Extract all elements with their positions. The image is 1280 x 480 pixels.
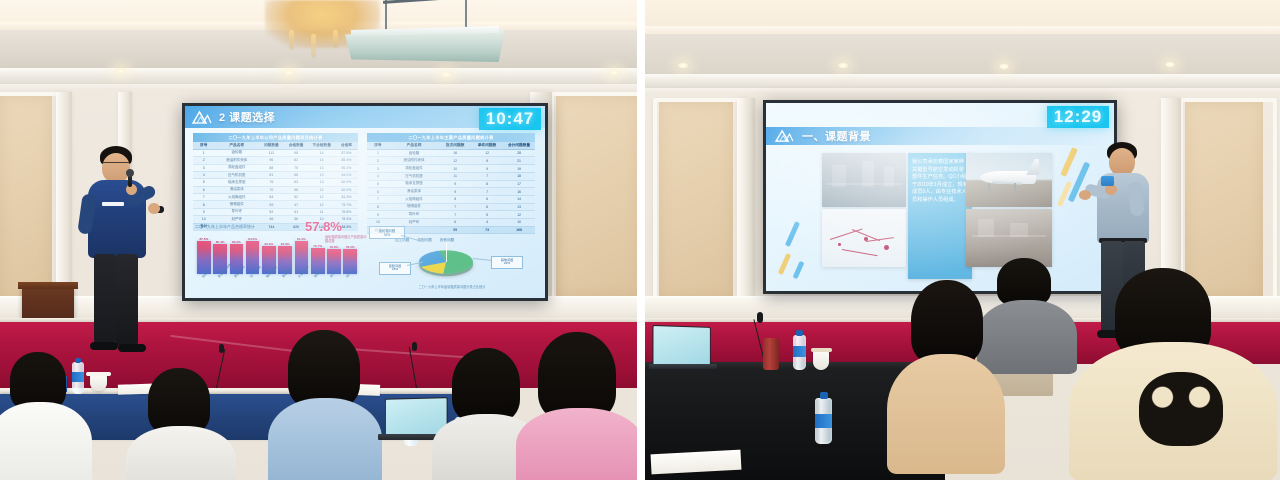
slide-header-bar: 一、课题背景 [766, 127, 1114, 145]
accent-bar-yellow [778, 253, 792, 275]
bar [197, 241, 211, 274]
laptop-base [649, 364, 717, 369]
table-row: 3 涡轮盘组件 88 75 13 85.2% [193, 164, 358, 171]
slide-clock-right: 12:29 [1047, 106, 1109, 128]
chandelier-crystal [311, 34, 316, 58]
downlight-icon [115, 67, 127, 74]
map-node [838, 243, 841, 246]
pie-callout-value: 22% [504, 261, 510, 265]
wall-pilaster [56, 92, 72, 306]
map-node [884, 245, 889, 250]
downlight-icon [837, 62, 849, 69]
table-row: 7 火焰筒组件 8 6 14 [367, 195, 535, 203]
wall-pilaster [737, 98, 755, 304]
table-row: 5 轴承支撑座 76 63 13 82.9% [193, 179, 358, 186]
crown-molding-upper [0, 68, 637, 84]
audience-shirt [126, 426, 236, 480]
gooseneck-microphone-head [412, 342, 417, 351]
bar-chart-title: 二〇一九年上半年产品合格率统计 [195, 224, 255, 230]
slide-table-left: 二〇一九年上半年公司产品质量问题项目统计表 序号 产品名称 问题数量 合格数量 … [193, 133, 358, 231]
accent-bar-blue [793, 261, 805, 279]
table-row: 10 封严环 6 4 10 [367, 218, 535, 226]
audience-member [270, 330, 380, 480]
downlight-icon [998, 63, 1010, 70]
audience-hair [148, 368, 210, 434]
slide-title-right: 一、课题背景 [802, 128, 871, 144]
conference-room-right: 一、课题背景 12:29 [645, 0, 1280, 480]
thermos [763, 338, 779, 370]
paper-cup-rim [811, 348, 832, 352]
bottle-cap [796, 330, 803, 336]
presenter-head [1109, 148, 1135, 176]
water-bottle [815, 392, 832, 444]
tshirt-graphic-print [1139, 372, 1223, 446]
presenter-hand-clicker [148, 203, 160, 214]
microphone-head [126, 169, 134, 177]
audience-hair [911, 280, 983, 364]
table-row: 6 滑油泵体 70 58 12 82.9% [193, 186, 358, 193]
audience-shirt-blue [268, 398, 382, 480]
ceiling-projector [345, 22, 505, 66]
water-bottle [793, 330, 806, 370]
factory-floor-photo [822, 153, 906, 207]
podium-top [18, 282, 78, 289]
presenter-leg-right [116, 254, 138, 346]
accent-bar-blue [785, 221, 800, 247]
table-header-row: 序号 产品名称 问题数量 合格数量 不合格数量 合格率 [193, 142, 358, 149]
bottle-cap [820, 392, 828, 399]
photo-detail [862, 161, 874, 187]
map-node [864, 237, 868, 241]
pie-callout-tertiary: 其他问题 22% [491, 256, 523, 269]
projector-mount-rod [385, 0, 387, 30]
panel-divider [637, 0, 645, 480]
table-row: 6 滑油泵体 9 7 16 [367, 188, 535, 196]
presenter-hand-clicker [1079, 190, 1091, 200]
table-row: 1 齿轮箱 112 98 14 87.5% [193, 149, 358, 156]
tea-cup [90, 374, 107, 391]
highlight-percent: 57.8% [305, 219, 342, 234]
audience-member [1075, 268, 1275, 480]
table-row: 7 火焰筒组件 64 52 12 81.3% [193, 194, 358, 201]
laptop-screen [652, 325, 710, 369]
table-header-row: 序号 产品名称 批次问题数 单件问题数 合计问题数量 [367, 142, 535, 149]
presenter-head [102, 153, 130, 183]
slide-title-left: 2 课题选择 [219, 109, 275, 125]
paper-cup [813, 350, 829, 370]
table-caption: 二〇一九年上半年主要产品质量问题统计表 [367, 133, 535, 142]
pie-callout-value: 33% [384, 233, 391, 237]
conference-room-left: 2 课题选择 10:47 二〇一九年上半年公司产品质量问题项目统计表 序号 产品… [0, 0, 637, 480]
microphone [1101, 176, 1114, 186]
gooseneck-microphone-head [219, 344, 224, 353]
projector-mount-rod [465, 0, 467, 30]
chandelier-crystal [333, 30, 338, 48]
downlight-icon [677, 62, 689, 69]
chandelier-crystal [289, 30, 294, 50]
presenter-badge [102, 202, 124, 206]
table-caption: 二〇一九年上半年公司产品质量问题项目统计表 [193, 133, 358, 142]
projection-screen-left: 2 课题选择 10:47 二〇一九年上半年公司产品质量问题项目统计表 序号 产品… [182, 103, 548, 301]
table-row: 5 轴承支撑座 9 8 17 [367, 180, 535, 188]
photo-detail [1010, 223, 1028, 237]
table-row: 2 燃油附件壳体 96 82 14 85.4% [193, 157, 358, 164]
presenter-leg-left [94, 254, 116, 344]
aircraft-landing-gear [1014, 183, 1016, 191]
slide-clock-left: 10:47 [479, 108, 541, 130]
pie-chart-block: 齿轮箱问题 33% 装配问题 18% 其他问题 22% [367, 226, 537, 292]
mountain-logo-icon [191, 110, 212, 125]
presenter-shoe-left [90, 342, 118, 350]
downlight-icon [608, 69, 620, 76]
pie-chart-caption: 二〇一九年上半年齿轮箱质量问题分类占比统计 [367, 284, 537, 289]
pie-callout-value: 18% [392, 267, 398, 271]
table-row: 2 燃油附件壳体 12 9 21 [367, 157, 535, 165]
audience-member [520, 332, 637, 480]
map-route [842, 249, 878, 256]
audience-hair [997, 258, 1051, 306]
photo-detail [832, 165, 846, 187]
photo-panel-left: 2 课题选择 10:47 二〇一九年上半年公司产品质量问题项目统计表 序号 产品… [0, 0, 637, 480]
table-row: 1 齿轮箱 16 12 28 [367, 149, 535, 157]
tea-cup-lid [86, 372, 111, 376]
audience-hair [538, 332, 616, 420]
photo-detail [884, 167, 894, 187]
audience-shirt-pink [516, 408, 637, 480]
downlight-icon [440, 71, 452, 78]
mountain-logo-icon [774, 129, 794, 143]
quality-table-left: 序号 产品名称 问题数量 合格数量 不合格数量 合格率 1 齿轮箱 [193, 142, 358, 231]
pie-callout-primary: 齿轮箱问题 33% [369, 226, 405, 239]
audience-shirt-tan [887, 354, 1005, 474]
aircraft-tail [1026, 159, 1039, 175]
downlight-icon [1164, 61, 1176, 68]
presenter-left [78, 146, 164, 366]
gooseneck-microphone-head [757, 312, 763, 323]
aircraft-wing [992, 179, 1022, 185]
slide-surface-left: 2 课题选择 10:47 二〇一九年上半年公司产品质量问题项目统计表 序号 产品… [185, 106, 545, 298]
table-row: 9 导叶环 52 41 11 78.8% [193, 208, 358, 215]
downlight-icon [283, 69, 295, 76]
audience-member [0, 352, 88, 480]
image-composite: 2 课题选择 10:47 二〇一九年上半年公司产品质量问题项目统计表 序号 产品… [0, 0, 1280, 480]
quality-table-right: 序号 产品名称 批次问题数 单件问题数 合计问题数量 1 齿轮箱 16 [367, 142, 535, 234]
table-row: 9 导叶环 7 5 12 [367, 211, 535, 219]
slide-text-block: 我公司承担着国家某种关键型号航空发动机零部件生产任务。QC小组于2019年1月成… [908, 153, 972, 279]
audience-member [885, 280, 1005, 480]
wall-panel-frame [550, 92, 637, 308]
wall-panel-frame [653, 98, 745, 310]
table-body: 1 齿轮箱 16 12 28 2 燃油附件壳体 12 [367, 149, 535, 234]
photo-detail [978, 219, 994, 237]
audience-hair [452, 348, 520, 422]
audience-member [132, 368, 232, 480]
pie-callout-secondary: 装配问题 18% [379, 262, 411, 275]
aircraft-landing-gear [988, 183, 990, 191]
table-row: 8 喷嘴组件 7 6 13 [367, 203, 535, 211]
table-row: 8 喷嘴组件 59 47 12 79.7% [193, 201, 358, 208]
bar-axis-labels: 齿轮箱 燃油附件壳体 涡轮盘组件 压气机机匣 轴承支撑座 滑油泵体 火焰筒组件 … [199, 276, 369, 294]
bar-group: 87.5% [197, 237, 211, 274]
presenter-shoe-right [118, 344, 146, 352]
pie-slice-divider [446, 242, 447, 262]
ceiling-soffit [645, 34, 1280, 76]
table-row: 4 压气机机匣 81 68 13 84.0% [193, 171, 358, 178]
accent-bar-yellow [1060, 147, 1078, 177]
photo-panel-right: 一、课题背景 12:29 [645, 0, 1280, 480]
map-route [866, 237, 894, 242]
table-row: 3 涡轮盘组件 10 9 19 [367, 165, 535, 173]
table-row: 4 压气机机匣 11 7 18 [367, 172, 535, 180]
crown-molding-upper [645, 74, 1280, 88]
highlight-note: 齿轮箱质量问题占产品质量问题总数 [325, 235, 369, 243]
turboprop-aircraft-photo [966, 153, 1052, 207]
route-map-photo [822, 209, 906, 267]
bottle-label [793, 346, 806, 357]
pie-leader-line [473, 258, 491, 261]
glasses-icon [103, 162, 129, 168]
audience-hair [288, 330, 360, 408]
audience-shirt-white [0, 402, 92, 480]
bottle-label [815, 414, 832, 428]
